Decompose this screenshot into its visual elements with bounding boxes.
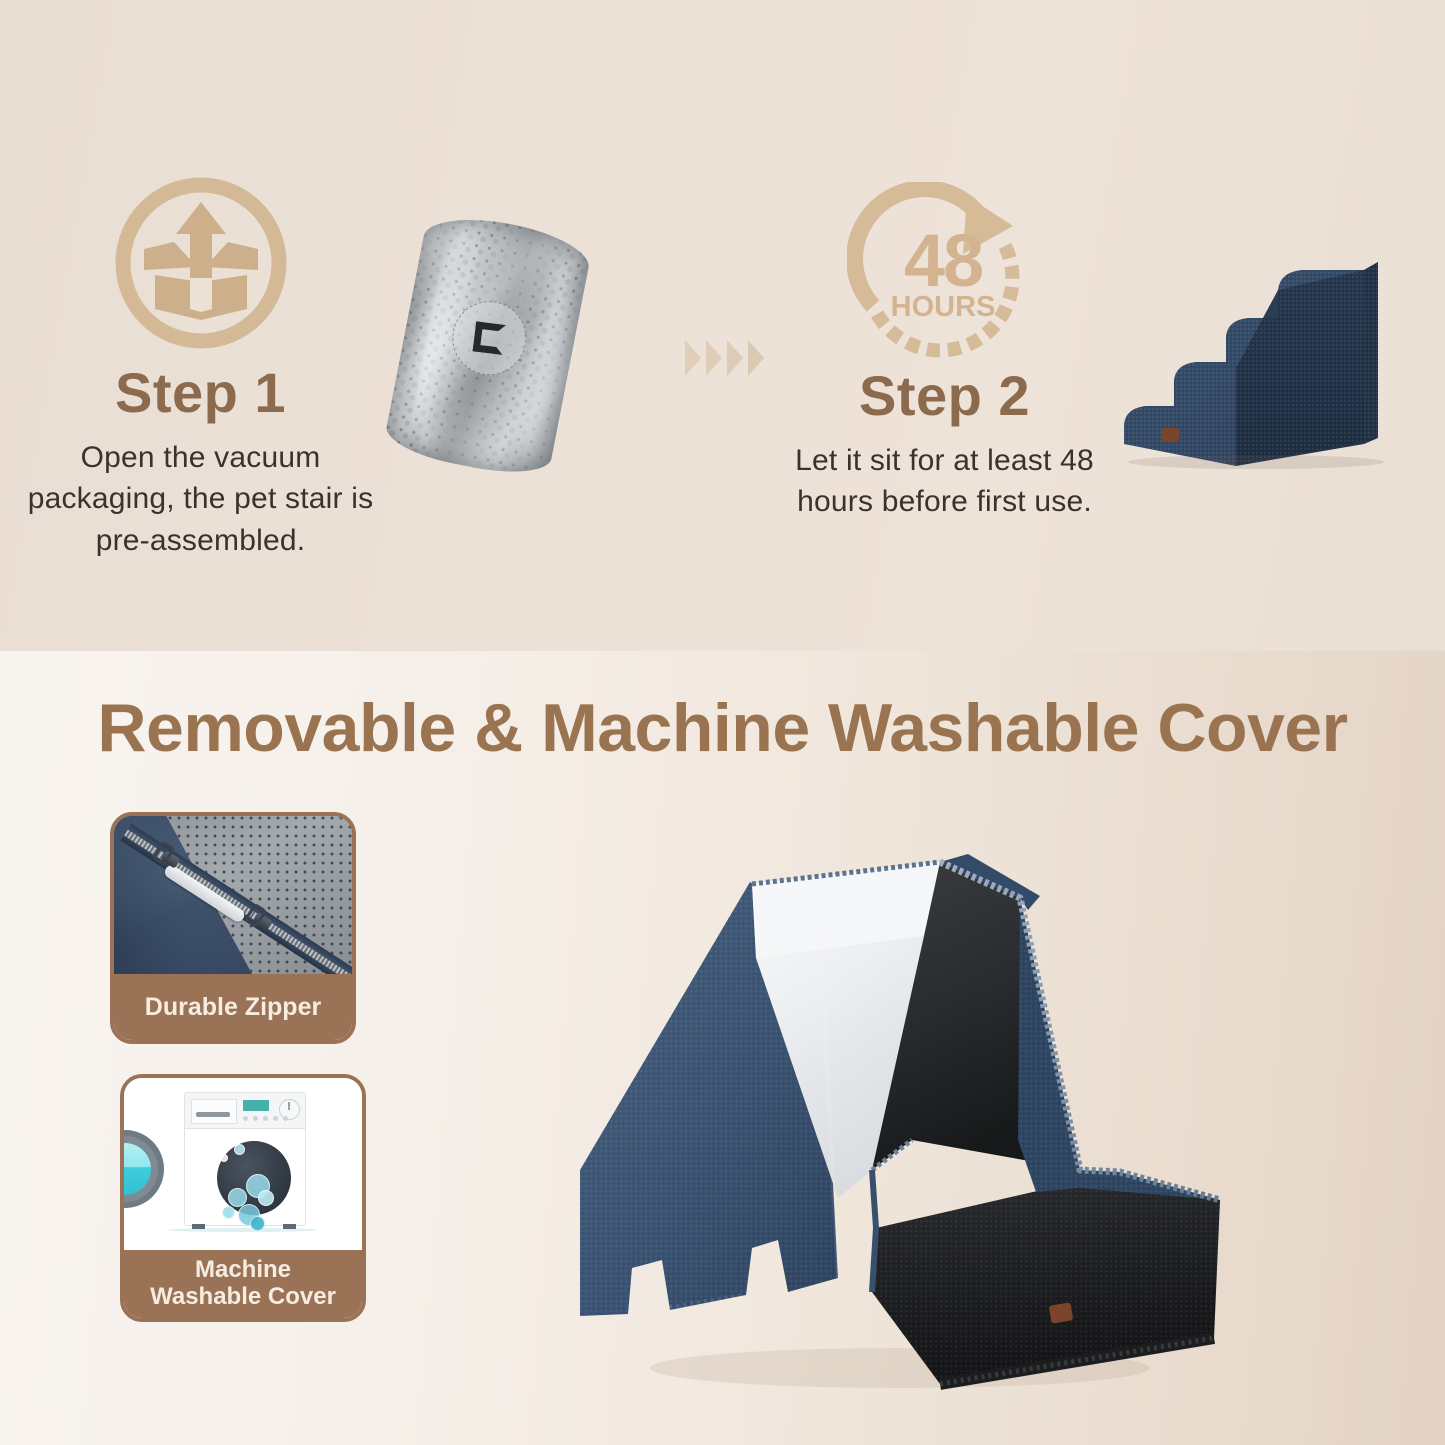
washer-button-dot	[283, 1116, 288, 1121]
washer-buttons	[243, 1116, 288, 1121]
drawer-slot	[196, 1112, 230, 1117]
zipper-closeup-photo	[114, 816, 352, 974]
step-1-description: Open the vacuum packaging, the pet stair…	[13, 437, 388, 561]
washer-foot	[283, 1224, 296, 1229]
step-2-description: Let it sit for at least 48 hours before …	[757, 440, 1132, 523]
washing-machine-icon	[124, 1078, 362, 1250]
chevron-right-icon	[685, 340, 701, 376]
zipper-artwork	[114, 816, 352, 974]
soap-bubble	[222, 1206, 235, 1219]
card-label-line-1: Machine	[195, 1256, 291, 1283]
washer-door-glass	[124, 1143, 151, 1195]
washer-door-open	[124, 1130, 164, 1208]
washer-button-dot	[263, 1116, 268, 1121]
feature-card-durable-zipper: Durable Zipper	[110, 812, 356, 1044]
soap-bubble	[258, 1190, 274, 1206]
product-infographic: Step 1 Open the vacuum packaging, the pe…	[0, 0, 1445, 1445]
soap-bubble	[220, 1154, 228, 1162]
washer-button-dot	[243, 1116, 248, 1121]
card-label-line-2: Washable Cover	[150, 1283, 336, 1310]
vacuum-packed-product-photo	[382, 208, 594, 482]
card-label-durable-zipper: Durable Zipper	[114, 974, 352, 1040]
soap-bubble	[234, 1144, 245, 1155]
open-box-arrow-icon	[13, 168, 388, 358]
svg-text:48: 48	[903, 219, 981, 302]
detergent-drawer	[191, 1099, 237, 1124]
48-hours-rotate-icon: 48 HOURS	[757, 185, 1132, 365]
svg-text:HOURS: HOURS	[890, 291, 995, 323]
card-label-machine-washable: Machine Washable Cover	[124, 1250, 362, 1318]
pet-stair-product-photo	[1116, 248, 1426, 473]
hero-product-photo	[520, 840, 1260, 1400]
steps-section: Step 1 Open the vacuum packaging, the pe…	[0, 0, 1445, 651]
chevron-right-icon	[727, 340, 743, 376]
section-heading: Removable & Machine Washable Cover	[0, 689, 1445, 767]
washer-foot	[192, 1224, 205, 1229]
washer-display	[243, 1100, 269, 1111]
washer-button-dot	[273, 1116, 278, 1121]
soap-bubble	[250, 1216, 265, 1231]
washer-button-dot	[253, 1116, 258, 1121]
brand-logo-mark-icon	[473, 321, 506, 354]
chevron-right-quad-icon	[685, 340, 764, 376]
step-1-title: Step 1	[13, 364, 388, 423]
washing-machine-artwork	[124, 1078, 362, 1250]
step-1-block: Step 1 Open the vacuum packaging, the pe…	[13, 168, 388, 561]
step-2-block: 48 HOURS Step 2 Let it sit for at least …	[757, 185, 1132, 523]
chevron-right-icon	[706, 340, 722, 376]
feature-card-machine-washable: Machine Washable Cover	[120, 1074, 366, 1322]
washer-control-panel	[185, 1093, 305, 1129]
step-2-title: Step 2	[757, 367, 1132, 426]
